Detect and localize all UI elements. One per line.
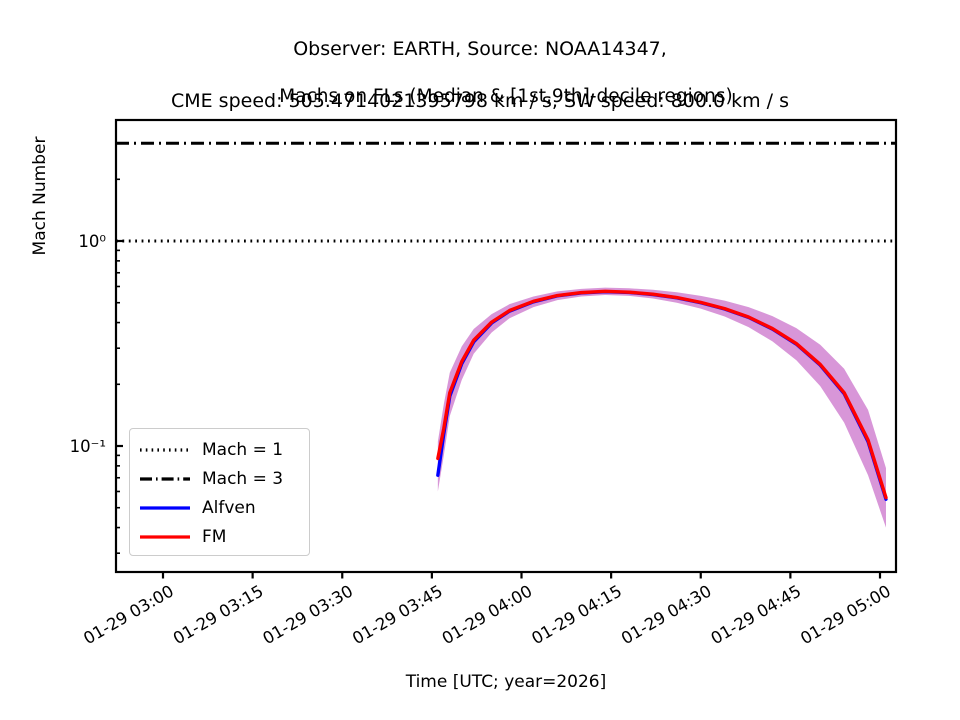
x-tick-label-6: 01-29 04:30	[618, 581, 715, 648]
x-tick-label-0: 01-29 03:00	[80, 581, 177, 648]
legend-swatch-mach-3	[138, 469, 192, 489]
x-tick-label-8: 01-29 05:00	[797, 581, 894, 648]
x-tick-label-4: 01-29 04:00	[439, 581, 536, 648]
legend-swatch-mach-1	[138, 440, 192, 460]
x-tick-label-3: 01-29 03:45	[349, 581, 446, 648]
legend-label-mach-3: Mach = 3	[202, 469, 283, 489]
legend[interactable]: Mach = 1 Mach = 3 Alfven FM	[129, 428, 310, 556]
x-tick-label-1: 01-29 03:15	[170, 581, 267, 648]
legend-label-mach-1: Mach = 1	[202, 440, 283, 460]
legend-entry-alfven: Alfven	[138, 493, 301, 522]
figure-canvas: Observer: EARTH, Source: NOAA14347, CME …	[0, 0, 960, 720]
y-tick-label-1: 10⁻¹	[70, 437, 106, 456]
legend-label-alfven: Alfven	[202, 498, 256, 518]
plot-area: 01-29 03:0001-29 03:1501-29 03:3001-29 0…	[0, 0, 960, 720]
legend-entry-fm: FM	[138, 522, 301, 551]
x-tick-label-7: 01-29 04:45	[708, 581, 805, 648]
legend-swatch-alfven	[138, 498, 192, 518]
legend-swatch-fm	[138, 527, 192, 547]
x-tick-label-5: 01-29 04:15	[528, 581, 625, 648]
legend-entry-mach-1: Mach = 1	[138, 435, 301, 464]
legend-label-fm: FM	[202, 527, 226, 547]
x-tick-label-2: 01-29 03:30	[259, 581, 356, 648]
y-tick-label-0: 10⁰	[78, 232, 106, 251]
legend-entry-mach-3: Mach = 3	[138, 464, 301, 493]
